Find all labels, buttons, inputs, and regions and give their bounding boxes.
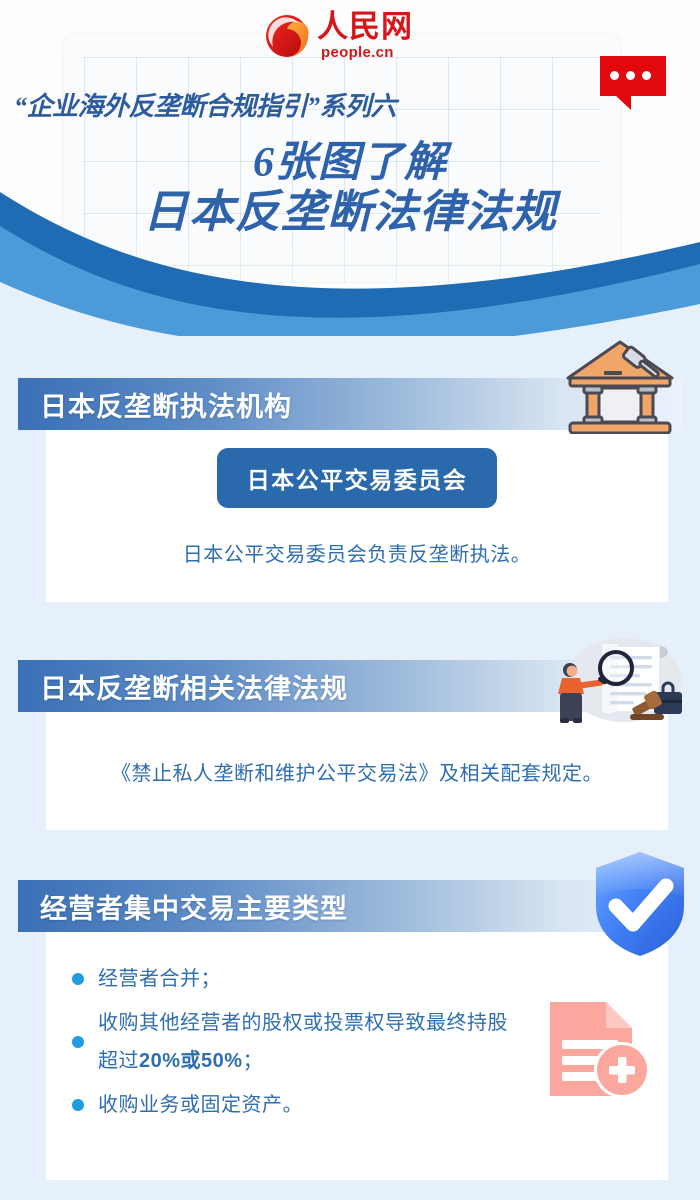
person-magnifier-document-icon xyxy=(546,634,686,734)
section-header-title: 经营者集中交易主要类型 xyxy=(40,887,348,926)
agency-badge[interactable]: 日本公平交易委员会 xyxy=(217,448,498,508)
list-item-emphasis: 20%或50% xyxy=(139,1050,243,1072)
concentration-types-list: 经营者合并； 收购其他经营者的股权或投票权导致最终持股超过20%或50%； 收购… xyxy=(58,960,518,1124)
bullet-dot-icon xyxy=(72,973,84,985)
people-cn-swirl-logo-icon xyxy=(265,14,309,58)
list-item: 经营者合并； xyxy=(58,960,518,998)
bullet-dot-icon xyxy=(72,1099,84,1111)
section-header-bar: 经营者集中交易主要类型 xyxy=(18,880,682,932)
page-title: 6张图了解 日本反垄断法律法规 xyxy=(0,140,700,237)
section-concentration-types: 经营者集中交易主要类型 经营者合并； 收购其他经营者的股权或投票权导致最终持股超… xyxy=(18,880,682,1180)
bubble-tail xyxy=(609,95,631,110)
bullet-dot-icon xyxy=(72,1036,84,1048)
section-enforcement-agency: 日本反垄断执法机构 日本公平交易委员会 日本公平交易委员会负责反垄断执法。 xyxy=(18,378,682,602)
section-laws-and-regulations: 日本反垄断相关法律法规 《禁止私人垄断和维护公平交易法》及相关配套规定。 xyxy=(18,660,682,830)
section-header-title: 日本反垄断执法机构 xyxy=(40,385,292,424)
section-body: 日本公平交易委员会 日本公平交易委员会负责反垄断执法。 xyxy=(46,430,668,602)
wave-base-path xyxy=(0,282,700,336)
hero-subtitle: “企业海外反垄断合规指引”系列六 xyxy=(14,86,396,123)
page-title-line-1: 6张图了解 xyxy=(0,140,700,187)
section-body-text: 日本公平交易委员会负责反垄断执法。 xyxy=(46,538,668,567)
section-header-title: 日本反垄断相关法律法规 xyxy=(40,667,348,706)
shield-check-icon xyxy=(588,848,692,960)
logo-chinese-text: 人民网 xyxy=(317,11,413,42)
document-plus-icon xyxy=(538,998,656,1102)
logo-english-text: people.cn xyxy=(321,45,394,60)
section-body-text: 《禁止私人垄断和维护公平交易法》及相关配套规定。 xyxy=(111,757,603,786)
list-item-text-tail: ； xyxy=(243,1050,264,1072)
bubble-dots xyxy=(610,71,651,80)
list-item: 收购其他经营者的股权或投票权导致最终持股超过20%或50%； xyxy=(58,1004,518,1080)
page-title-line-2: 日本反垄断法律法规 xyxy=(0,187,700,237)
list-item-text: 经营者合并； xyxy=(98,968,221,990)
speech-bubble-ellipsis-icon[interactable] xyxy=(600,56,666,102)
hero-banner: 人民网 people.cn “企业海外反垄断合规指引”系列六 6张图了解 日本反… xyxy=(0,0,700,290)
list-item-text: 收购业务或固定资产。 xyxy=(98,1094,303,1116)
list-item: 收购业务或固定资产。 xyxy=(58,1086,518,1124)
courthouse-gavel-icon xyxy=(564,338,676,434)
site-logo[interactable]: 人民网 people.cn xyxy=(265,12,435,66)
